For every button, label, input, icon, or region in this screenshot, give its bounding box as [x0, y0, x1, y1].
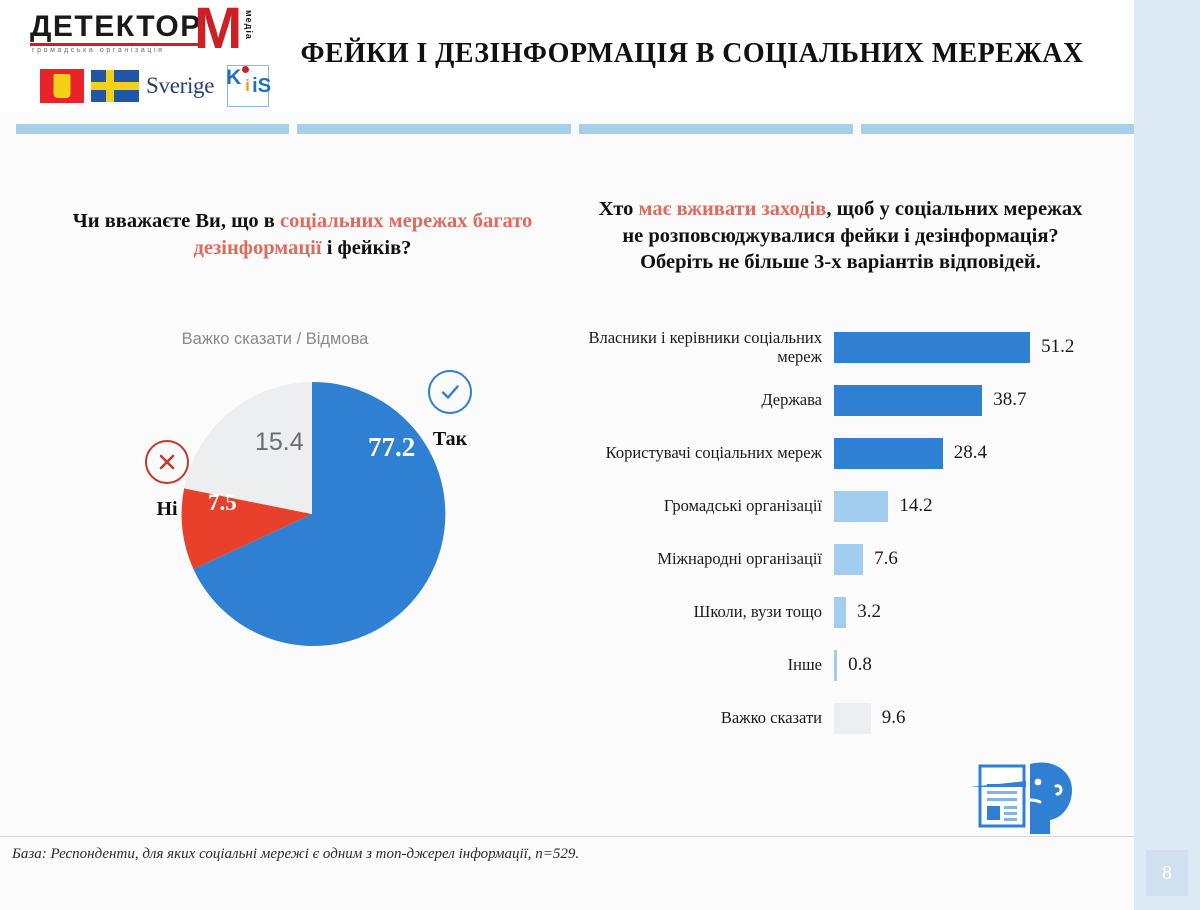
page-number-box: 8	[1146, 850, 1188, 896]
bar-category-label: Користувачі соціальних мереж	[588, 443, 834, 462]
bar-fill[interactable]	[834, 544, 863, 575]
divider-segment-3	[579, 124, 853, 134]
divider-segment-1	[16, 124, 289, 134]
right-sidebar: ФЕЙКИ І ДЕЗІНФОРМАЦІЯ В СОЦІАЛЬНИХ МЕРЕЖ…	[1134, 0, 1200, 910]
bar-category-label: Школи, вузи тощо	[588, 602, 834, 621]
bar-fill[interactable]	[834, 491, 888, 522]
slide-root: ДЕТЕКТОР громадська організація M медіа …	[0, 0, 1200, 910]
pie-chart-area: Важко сказати / Відмова ? 77.2 7.5 15.4 …	[30, 328, 575, 738]
crest-shape-icon	[54, 74, 71, 98]
bar-category-label: Громадські організації	[588, 496, 834, 515]
bar-value-label: 14.2	[899, 495, 932, 517]
bar-fill[interactable]	[834, 650, 837, 681]
sverige-label: Sverige	[146, 73, 214, 99]
pie-value-hard: 15.4	[255, 428, 304, 457]
pie-chart-panel: Чи вважаєте Ви, що в соціальних мережах …	[30, 208, 575, 738]
left-question-text: Чи вважаєте Ви, що в соціальних мережах …	[40, 208, 565, 261]
logo-wordmark: ДЕТЕКТОР	[30, 10, 202, 44]
fake-news-pinocchio-icon	[968, 756, 1076, 848]
bar-category-label: Міжнародні організації	[588, 549, 834, 568]
bar-value-label: 0.8	[848, 654, 872, 676]
logo-subtitle: громадська організація	[32, 47, 165, 54]
bar-row: Важко сказати9.6	[588, 695, 1108, 741]
sidebar-vertical-title: ФЕЙКИ І ДЕЗІНФОРМАЦІЯ В СОЦІАЛЬНИХ МЕРЕЖ…	[957, 150, 1200, 691]
yes-caption: Так	[428, 428, 472, 451]
bar-category-label: Інше	[588, 655, 834, 674]
pie-value-no: 7.5	[208, 490, 237, 516]
footer-divider	[0, 836, 1134, 837]
left-q-part2: і фейків?	[322, 237, 412, 259]
bar-category-label: Важко сказати	[588, 708, 834, 727]
kiis-letter-k: K	[226, 66, 241, 90]
logo-m-mark: M	[194, 0, 242, 58]
kiis-letter-i: i	[245, 76, 250, 96]
divider-segment-2	[297, 124, 571, 134]
yes-check-badge[interactable]	[428, 370, 472, 414]
header-divider-bands	[16, 124, 1134, 134]
left-q-highlight1: соціальних мережах	[280, 210, 468, 232]
detector-media-logo: ДЕТЕКТОР громадська організація M медіа …	[14, 4, 266, 110]
divider-segment-4	[861, 124, 1134, 134]
sweden-flag-icon	[91, 70, 139, 102]
slide-header: ДЕТЕКТОР громадська організація M медіа …	[0, 0, 1134, 112]
bar-track: 9.6	[834, 703, 1108, 734]
page-number: 8	[1162, 862, 1172, 885]
logo-media-vertical: медіа	[244, 10, 254, 40]
bar-category-label: Власники і керівники соціальних мереж	[588, 328, 834, 367]
bar-value-label: 7.6	[874, 548, 898, 570]
no-caption: Ні	[143, 498, 191, 521]
ukraine-emblem-icon	[40, 69, 84, 103]
pie-value-yes: 77.2	[368, 432, 415, 463]
logo-red-underline	[30, 43, 202, 46]
right-q-highlight: має вживати заходів	[639, 198, 827, 220]
bar-fill[interactable]	[834, 438, 943, 469]
partner-logos: Sverige K i iS	[40, 62, 273, 110]
bar-value-label: 9.6	[882, 707, 906, 729]
footnote-base: База: Респонденти, для яких соціальні ме…	[12, 846, 579, 863]
kiis-logo: K i iS	[223, 62, 273, 110]
pie-slice-label-hard: Важко сказати / Відмова	[180, 328, 370, 350]
bar-fill[interactable]	[834, 703, 871, 734]
check-icon	[437, 379, 463, 405]
no-cross-badge[interactable]	[145, 440, 189, 484]
page-title: ФЕЙКИ І ДЕЗІНФОРМАЦІЯ В СОЦІАЛЬНИХ МЕРЕЖ…	[272, 38, 1112, 70]
close-icon	[155, 450, 179, 474]
kiis-letter-is: iS	[252, 75, 271, 98]
left-q-part1: Чи вважаєте Ви, що в	[73, 210, 280, 232]
bar-value-label: 3.2	[857, 601, 881, 623]
right-q-part1: Хто	[599, 198, 639, 220]
bar-category-label: Держава	[588, 390, 834, 409]
bar-fill[interactable]	[834, 597, 846, 628]
